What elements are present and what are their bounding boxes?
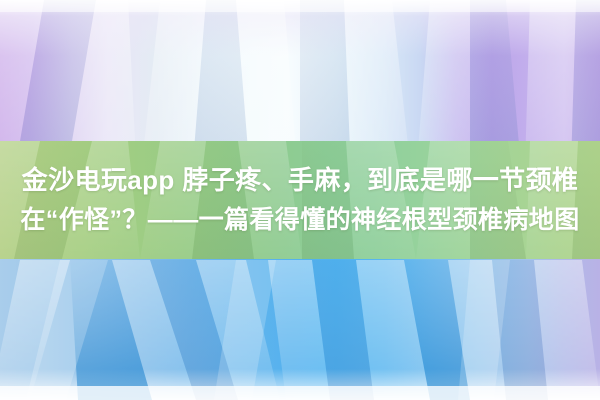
headline-block: 金沙电玩app 脖子疼、手麻，到底是哪一节颈椎 在“作怪”？——一篇看得懂的神经… [0, 141, 600, 259]
headline-line-1: 金沙电玩app 脖子疼、手麻，到底是哪一节颈椎 [22, 161, 579, 199]
headline-line-2: 在“作怪”？——一篇看得懂的神经根型颈椎病地图 [20, 201, 579, 239]
background-gradient-lower [0, 259, 600, 400]
banner-image: 金沙电玩app 脖子疼、手麻，到底是哪一节颈椎 在“作怪”？——一篇看得懂的神经… [0, 0, 600, 400]
